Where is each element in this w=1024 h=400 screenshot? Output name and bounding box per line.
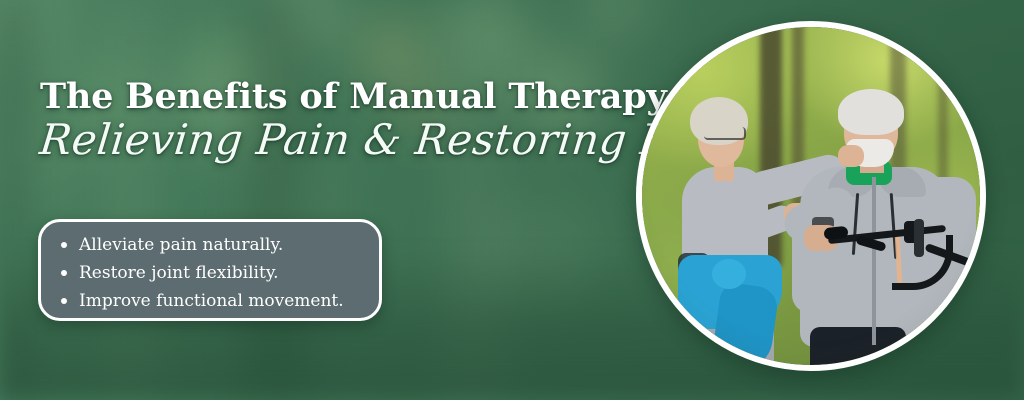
list-item: Improve functional movement. [59,287,365,315]
list-item-label: Alleviate pain naturally. [79,235,283,255]
benefits-card: Alleviate pain naturally. Restore joint … [38,219,382,321]
photo-vignette [642,27,980,365]
headline-script: Relieving Pain & Restoring Function [38,118,643,162]
list-item-label: Restore joint flexibility. [79,263,279,283]
list-item-label: Improve functional movement. [79,291,344,311]
benefits-list: Alleviate pain naturally. Restore joint … [59,231,365,315]
hero-photo-circle [636,21,986,371]
bullet-dot-icon [61,298,67,304]
bullet-dot-icon [61,270,67,276]
headline-primary: The Benefits of Manual Therapy for [40,78,640,116]
list-item: Alleviate pain naturally. [59,231,365,259]
hero-photo [642,27,980,365]
list-item: Restore joint flexibility. [59,259,365,287]
headline-block: The Benefits of Manual Therapy for Relie… [40,78,640,162]
bullet-dot-icon [61,242,67,248]
promo-banner: The Benefits of Manual Therapy for Relie… [0,0,1024,400]
